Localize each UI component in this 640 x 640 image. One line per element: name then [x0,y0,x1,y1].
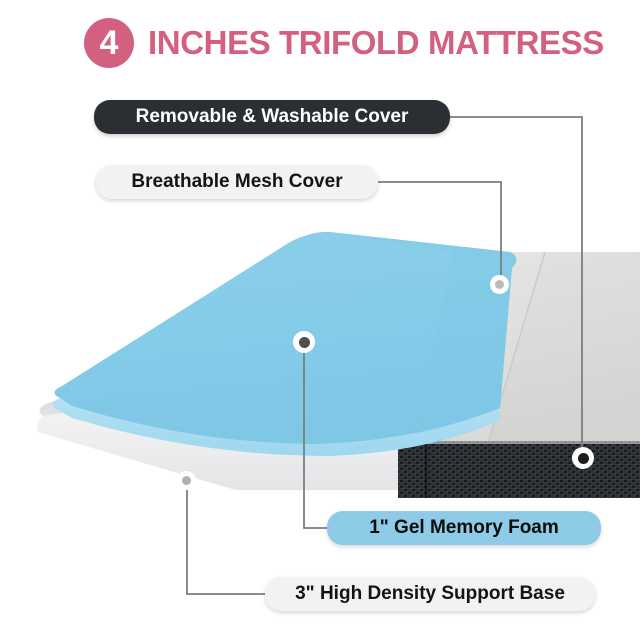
callout-dot-breathable-mesh[interactable] [293,331,315,353]
callout-dot-removable-cover[interactable] [490,275,509,294]
callout-label-support-base[interactable]: 3" High Density Support Base [265,577,595,611]
callout-dot-support-base[interactable] [177,471,196,490]
callout-label-breathable-mesh[interactable]: Breathable Mesh Cover [96,165,378,199]
mesh-side-band [398,441,640,498]
callout-label-removable-cover[interactable]: Removable & Washable Cover [94,100,450,134]
callout-dot-gel-foam[interactable] [572,447,594,469]
gel-memory-foam-layer [53,232,517,456]
infographic-canvas: 4 INCHES TRIFOLD MATTRESS [0,0,640,640]
callout-label-gel-foam[interactable]: 1" Gel Memory Foam [327,511,601,545]
connector-support-base [187,481,265,594]
